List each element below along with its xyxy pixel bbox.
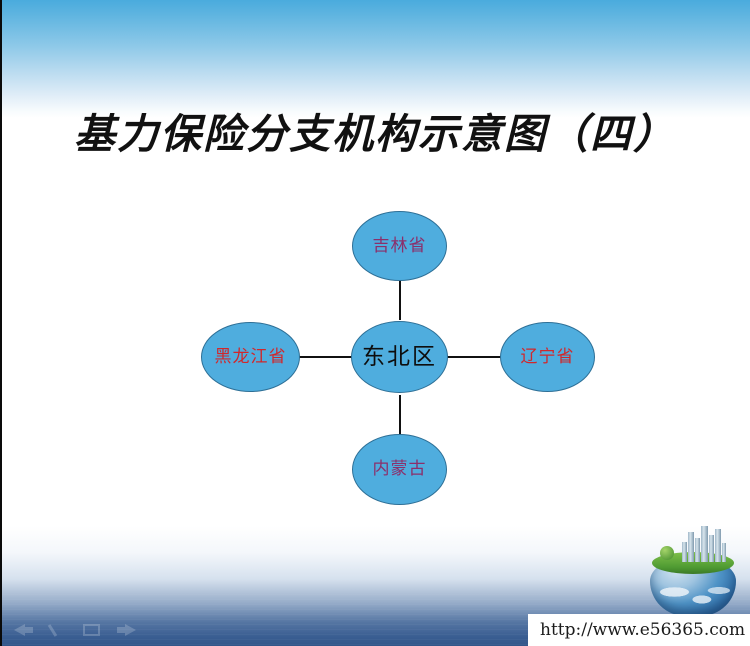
- node-neimenggu-label: 内蒙古: [373, 461, 427, 478]
- presentation-slide: 基力保险分支机构示意图（四） 吉林省 黑龙江省 东北区 辽宁省 内蒙古: [0, 0, 750, 646]
- node-dongbeiqu[interactable]: 东北区: [351, 321, 448, 393]
- node-dongbeiqu-label: 东北区: [362, 346, 437, 369]
- node-liaoning[interactable]: 辽宁省: [500, 322, 595, 392]
- connector-center-to-bottom: [399, 395, 401, 435]
- earth-city-globe-logo: [640, 524, 746, 616]
- slideshow-controls[interactable]: [14, 622, 136, 638]
- node-jilin-label: 吉林省: [373, 238, 427, 255]
- node-liaoning-label: 辽宁省: [521, 349, 575, 366]
- connector-center-to-right: [447, 356, 502, 358]
- node-heilongjiang-label: 黑龙江省: [215, 349, 287, 366]
- slide-menu-icon[interactable]: [82, 622, 102, 638]
- connector-center-to-left: [298, 356, 353, 358]
- node-jilin[interactable]: 吉林省: [352, 211, 447, 281]
- next-slide-icon[interactable]: [116, 622, 136, 638]
- org-chart-diagram: 吉林省 黑龙江省 东北区 辽宁省 内蒙古: [0, 0, 750, 646]
- node-heilongjiang[interactable]: 黑龙江省: [201, 322, 300, 392]
- watermark-url-bar: http://www.e56365.com: [528, 614, 750, 646]
- watermark-url: http://www.e56365.com: [528, 620, 745, 640]
- pen-tool-icon[interactable]: [48, 622, 68, 638]
- previous-slide-icon[interactable]: [14, 622, 34, 638]
- node-neimenggu[interactable]: 内蒙古: [352, 434, 447, 505]
- tree-icon: [660, 546, 674, 560]
- city-skyline-icon: [682, 526, 726, 562]
- connector-center-to-top: [399, 280, 401, 320]
